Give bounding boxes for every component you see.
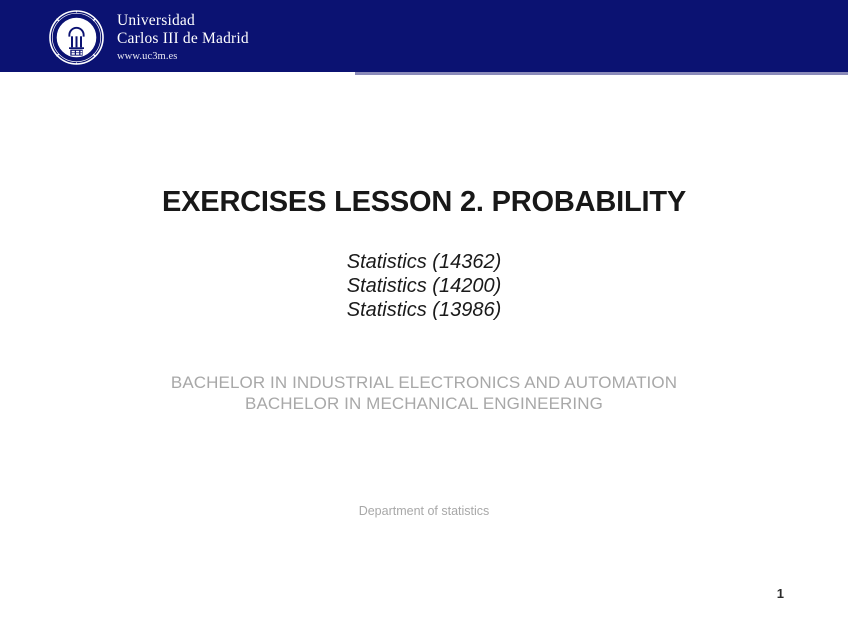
slide-canvas: Universidad Carlos III de Madrid www.uc3… [0, 0, 848, 636]
course-code-list: Statistics (14362) Statistics (14200) St… [0, 250, 848, 322]
page-title: EXERCISES LESSON 2. PROBABILITY [0, 186, 848, 219]
university-name-line-2: Carlos III de Madrid [117, 31, 249, 47]
degree-program-item: BACHELOR IN MECHANICAL ENGINEERING [0, 394, 848, 415]
page-number: 1 [777, 586, 784, 601]
department-label: Department of statistics [0, 504, 848, 518]
uc3m-seal-icon [48, 9, 105, 66]
course-code-item: Statistics (14200) [0, 274, 848, 298]
degree-program-list: BACHELOR IN INDUSTRIAL ELECTRONICS AND A… [0, 373, 848, 414]
degree-program-item: BACHELOR IN INDUSTRIAL ELECTRONICS AND A… [0, 373, 848, 394]
uc3m-logo: Universidad Carlos III de Madrid www.uc3… [48, 9, 249, 66]
course-code-item: Statistics (13986) [0, 298, 848, 322]
university-name-line-1: Universidad [117, 13, 249, 29]
course-code-item: Statistics (14362) [0, 250, 848, 274]
university-website: www.uc3m.es [117, 52, 249, 63]
header-divider-rule [355, 72, 848, 75]
uc3m-logo-text: Universidad Carlos III de Madrid www.uc3… [117, 13, 249, 63]
